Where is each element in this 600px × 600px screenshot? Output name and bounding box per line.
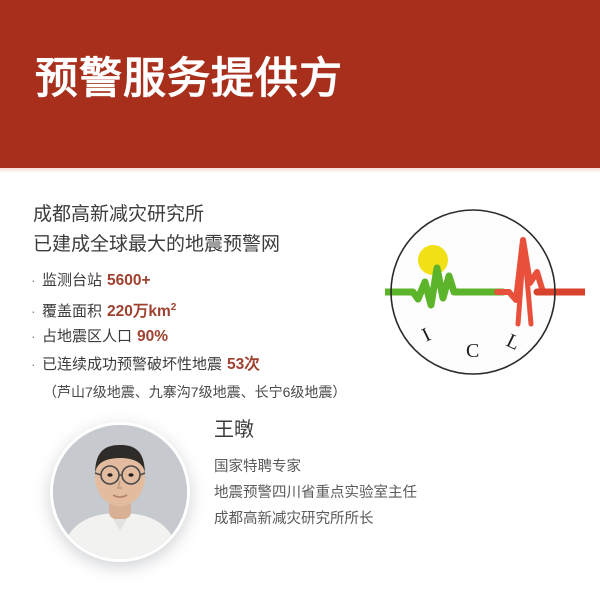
stat-label: 覆盖面积: [42, 298, 102, 326]
stat-label: 已连续成功预警破坏性地震: [42, 351, 222, 379]
stat-note: （芦山7级地震、九寨沟7级地震、长宁6级地震）: [43, 378, 381, 406]
list-item: · 覆盖面积 220万km2: [31, 294, 381, 322]
page-title: 预警服务提供方: [35, 58, 343, 101]
expert-profile: 王暾 国家特聘专家 地震预警四川省重点实验室主任 成都高新减灾研究所所长: [0, 416, 600, 600]
stat-value: 5600+: [107, 267, 151, 295]
expert-credential: 地震预警四川省重点实验室主任: [214, 480, 554, 506]
stat-value: 53次: [227, 351, 260, 379]
bullet-icon: ·: [31, 322, 42, 350]
stat-value-exponent: 2: [171, 302, 177, 313]
stat-value: 90%: [137, 323, 168, 351]
institute-heading: 成都高新减灾研究所 已建成全球最大的地震预警网: [33, 200, 373, 260]
institute-tagline: 已建成全球最大的地震预警网: [33, 230, 373, 260]
expert-details: 王暾 国家特聘专家 地震预警四川省重点实验室主任 成都高新减灾研究所所长: [214, 416, 554, 532]
icl-logo-svg: I C L: [385, 206, 585, 386]
institute-name: 成都高新减灾研究所: [33, 200, 373, 230]
bullet-icon: ·: [31, 266, 42, 294]
list-item: · 监测台站 5600+: [31, 266, 381, 294]
stat-label: 占地震区人口: [42, 323, 132, 351]
main-content: 成都高新减灾研究所 已建成全球最大的地震预警网 · 监测台站 5600+ · 覆…: [0, 173, 600, 600]
icl-logo: I C L: [385, 206, 585, 386]
avatar-photo: [53, 425, 187, 559]
stat-value: 220万km2: [107, 294, 176, 326]
sun-icon: [418, 245, 448, 275]
stat-label: 监测台站: [42, 267, 102, 295]
header-banner: 预警服务提供方: [0, 0, 600, 168]
expert-credential: 成都高新减灾研究所所长: [214, 506, 554, 532]
bullet-icon: ·: [31, 350, 42, 378]
expert-name: 王暾: [214, 416, 554, 444]
statistics-list: · 监测台站 5600+ · 覆盖面积 220万km2 · 占地震区人口 90%…: [31, 266, 381, 406]
list-item: · 已连续成功预警破坏性地震 53次: [31, 350, 381, 378]
list-item: · 占地震区人口 90%: [31, 322, 381, 350]
expert-credential: 国家特聘专家: [214, 454, 554, 480]
bullet-icon: ·: [31, 297, 42, 325]
logo-letter-c: C: [466, 340, 479, 362]
avatar: [50, 422, 190, 562]
stat-value-text: 220万km: [107, 303, 171, 320]
